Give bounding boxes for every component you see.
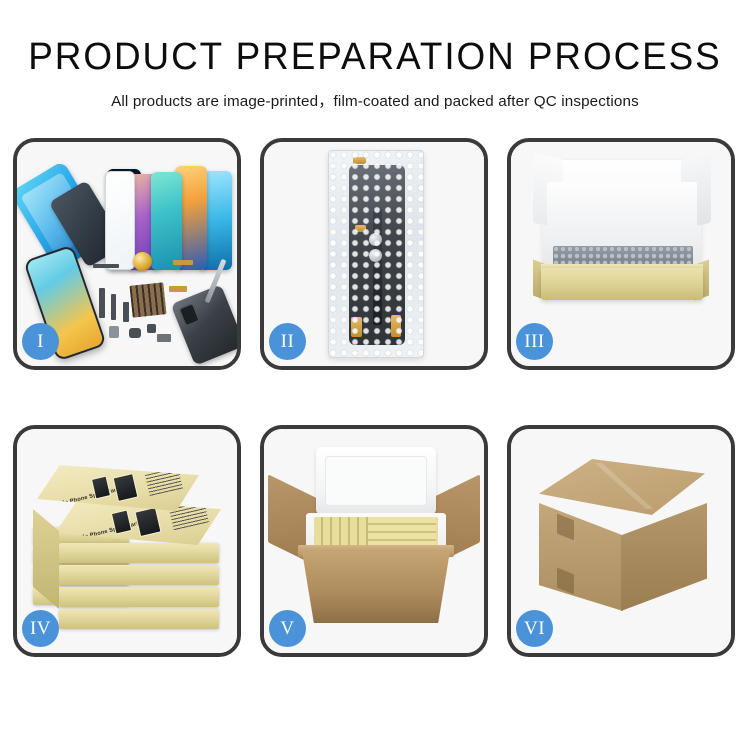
- box-window-1b: [112, 473, 138, 502]
- speaker-module-icon: [133, 252, 152, 271]
- step-panel-6[interactable]: VI: [507, 425, 735, 657]
- step-panel-1[interactable]: I: [13, 138, 241, 370]
- bubble-wrap-bag: [328, 150, 424, 358]
- part-strip-1: [93, 264, 119, 268]
- stacked-box-f4: [59, 609, 219, 629]
- page-header: PRODUCT PREPARATION PROCESS All products…: [0, 0, 750, 111]
- carton-left-face: [539, 503, 623, 611]
- kraft-box-front: [541, 268, 703, 300]
- connector-bottom-right: [391, 315, 401, 337]
- kraft-box-stack: Mobile Phone Spare Parts Mobile Phone Sp…: [31, 443, 227, 643]
- page-subtitle: All products are image-printed，film-coat…: [0, 89, 750, 111]
- part-strip-6: [169, 286, 187, 292]
- camera-lens-1: [369, 233, 382, 246]
- step-badge-1: I: [22, 323, 59, 360]
- phone-back-cover: [171, 284, 237, 365]
- camera-lens-2: [369, 249, 382, 262]
- process-steps-grid: I II III: [13, 138, 737, 657]
- step-badge-4: IV: [22, 610, 59, 647]
- stacked-box-f3: [59, 587, 219, 607]
- page-title: PRODUCT PREPARATION PROCESS: [11, 38, 739, 78]
- carton-right-face: [621, 503, 707, 611]
- part-button: [129, 328, 141, 338]
- part-strip-2: [173, 260, 193, 265]
- step-panel-4[interactable]: Mobile Phone Spare Parts Mobile Phone Sp…: [13, 425, 241, 657]
- connector-bottom-left: [351, 317, 362, 337]
- connector-mid: [355, 225, 366, 232]
- part-strip-5: [123, 302, 129, 322]
- box-window-2a: [111, 509, 133, 534]
- carton-body: [302, 551, 450, 623]
- part-camera: [109, 326, 119, 338]
- step-badge-3: III: [516, 323, 553, 360]
- step-panel-2[interactable]: II: [260, 138, 488, 370]
- connector-top: [353, 157, 366, 164]
- step-panel-3[interactable]: III: [507, 138, 735, 370]
- part-chip: [147, 324, 156, 333]
- flex-cable: [373, 209, 382, 325]
- step-badge-6: VI: [516, 610, 553, 647]
- box-window-1a: [91, 475, 111, 499]
- spare-parts-group: [89, 250, 237, 362]
- part-strip-3: [99, 288, 105, 318]
- part-strip-4: [111, 294, 116, 320]
- chip-array: [129, 282, 166, 317]
- foam-box-lid: [316, 447, 436, 515]
- step-panel-5[interactable]: V: [260, 425, 488, 657]
- stacked-box-f1: [59, 543, 219, 563]
- top-box-lid-1: Mobile Phone Spare Parts: [37, 465, 199, 511]
- stacked-box-f2: [59, 565, 219, 585]
- part-bracket: [157, 334, 171, 342]
- box-text-lines-1: [145, 467, 183, 496]
- box-window-2b: [134, 507, 161, 537]
- step-badge-2: II: [269, 323, 306, 360]
- foam-sheet: [547, 182, 697, 248]
- step-badge-5: V: [269, 610, 306, 647]
